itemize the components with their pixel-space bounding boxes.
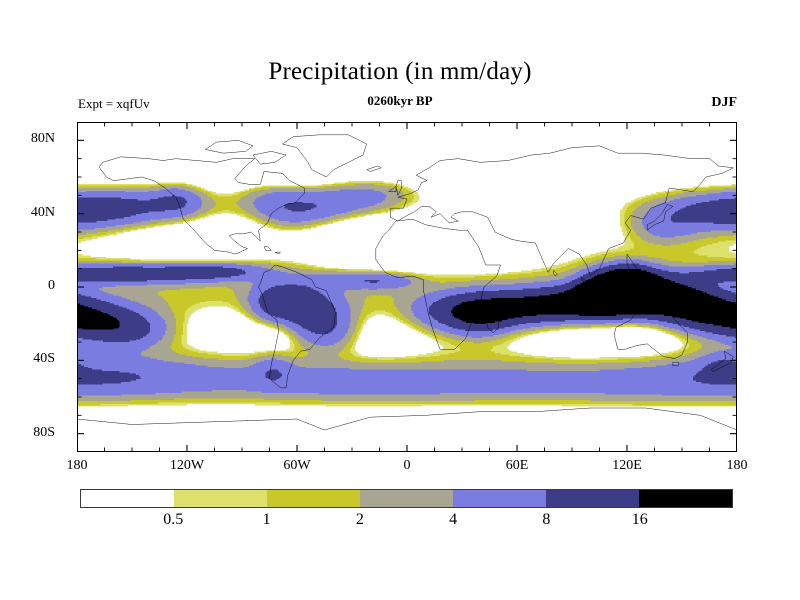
y-tick-label: 80N bbox=[0, 131, 55, 147]
colorbar-swatch bbox=[267, 490, 360, 507]
page-title: Precipitation (in mm/day) bbox=[0, 58, 800, 86]
colorbar-swatch bbox=[174, 490, 267, 507]
x-tick-label: 60W bbox=[262, 458, 332, 474]
y-tick-label: 40N bbox=[0, 205, 55, 221]
experiment-label: Expt = xqfUv bbox=[78, 96, 150, 112]
x-tick-label: 60E bbox=[482, 458, 552, 474]
precipitation-map-figure: Precipitation (in mm/day) 0260kyr BP Exp… bbox=[0, 0, 800, 600]
precipitation-contour-map bbox=[77, 122, 737, 452]
colorbar-tick-label: 2 bbox=[330, 511, 390, 529]
y-tick-label: 80S bbox=[0, 425, 55, 441]
x-tick-label: 0 bbox=[372, 458, 442, 474]
y-tick-label: 40S bbox=[0, 351, 55, 367]
map-plot-area bbox=[77, 122, 737, 452]
precipitation-bands bbox=[77, 122, 737, 452]
colorbar-tick-label: 1 bbox=[237, 511, 297, 529]
colorbar-tick-label: 8 bbox=[516, 511, 576, 529]
x-tick-label: 180 bbox=[42, 458, 112, 474]
colorbar-swatch bbox=[81, 490, 174, 507]
colorbar-swatch bbox=[360, 490, 453, 507]
colorbar bbox=[80, 489, 733, 508]
x-tick-label: 120E bbox=[592, 458, 662, 474]
season-label: DJF bbox=[711, 95, 737, 111]
x-tick-label: 180 bbox=[702, 458, 772, 474]
colorbar-tick-label: 0.5 bbox=[143, 511, 203, 529]
colorbar-swatch bbox=[639, 490, 732, 507]
colorbar-tick-label: 4 bbox=[423, 511, 483, 529]
colorbar-swatch bbox=[546, 490, 639, 507]
y-tick-label: 0 bbox=[0, 278, 55, 294]
colorbar-swatch bbox=[453, 490, 546, 507]
x-tick-label: 120W bbox=[152, 458, 222, 474]
colorbar-tick-label: 16 bbox=[610, 511, 670, 529]
